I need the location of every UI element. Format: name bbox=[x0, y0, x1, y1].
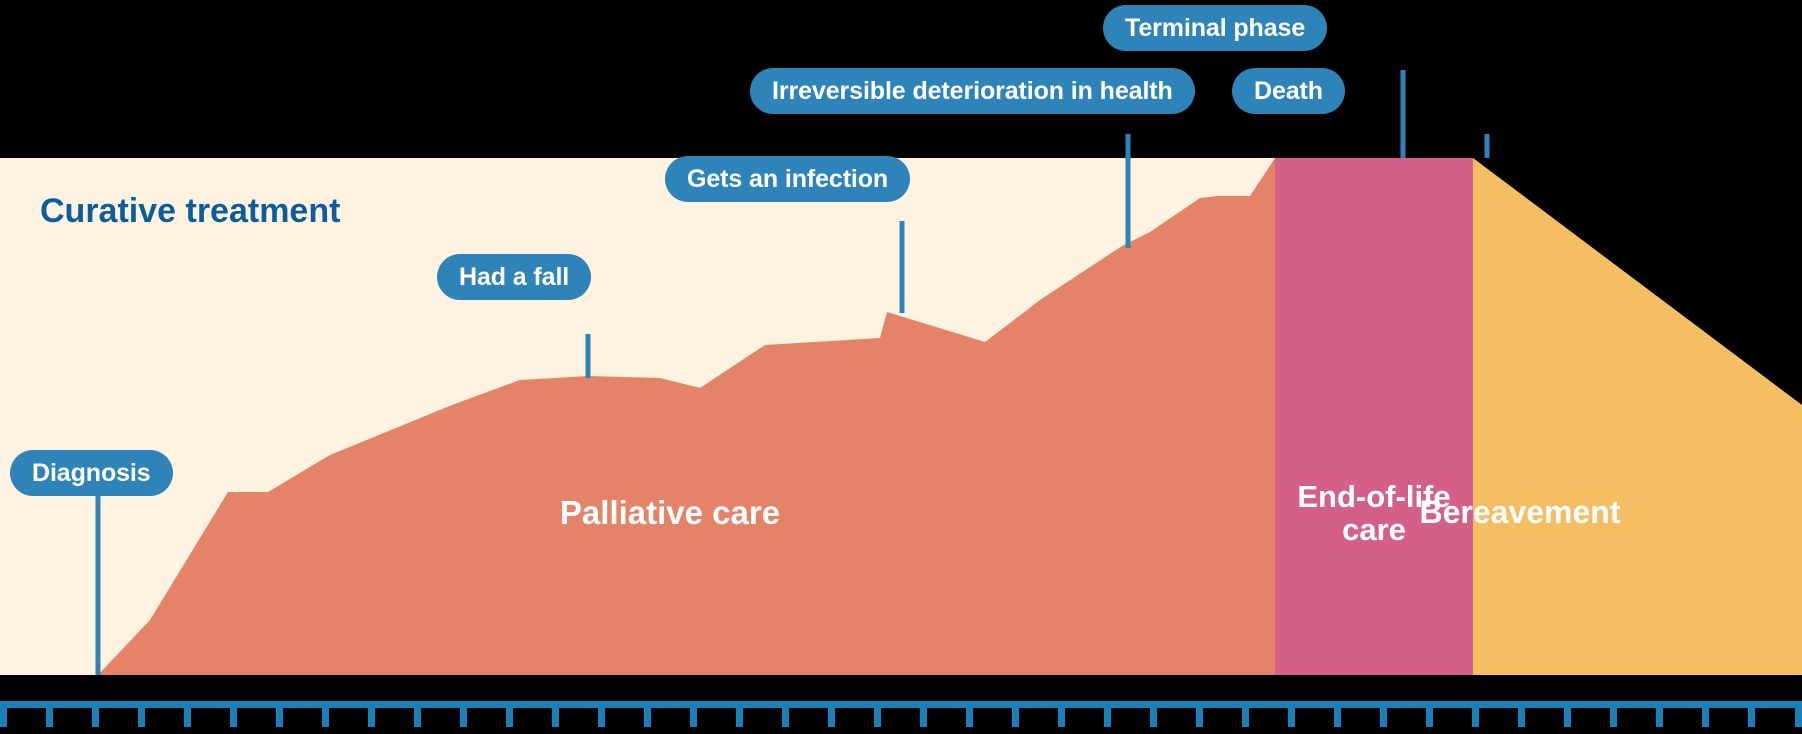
end-of-life-care-band bbox=[1275, 158, 1473, 675]
annotation-pill-gets-an-infection[interactable]: Gets an infection bbox=[665, 156, 910, 202]
annotation-pill-irreversible-deterioration[interactable]: Irreversible deterioration in health bbox=[750, 68, 1195, 114]
annotation-pill-had-a-fall[interactable]: Had a fall bbox=[437, 254, 591, 300]
band-label-curative-treatment: Curative treatment bbox=[40, 192, 340, 231]
annotation-pill-terminal-phase[interactable]: Terminal phase bbox=[1103, 5, 1327, 51]
annotation-pill-death[interactable]: Death bbox=[1232, 68, 1345, 114]
time-axis bbox=[0, 701, 1802, 727]
annotation-pill-diagnosis[interactable]: Diagnosis bbox=[10, 450, 173, 496]
axis-baseline bbox=[0, 701, 1802, 708]
band-label-palliative-care: Palliative care bbox=[470, 495, 870, 531]
diagram-canvas: Curative treatment Palliative care End-o… bbox=[0, 0, 1802, 734]
bereavement-band bbox=[1473, 158, 1802, 675]
band-label-bereavement: Bereavement bbox=[1300, 495, 1740, 530]
